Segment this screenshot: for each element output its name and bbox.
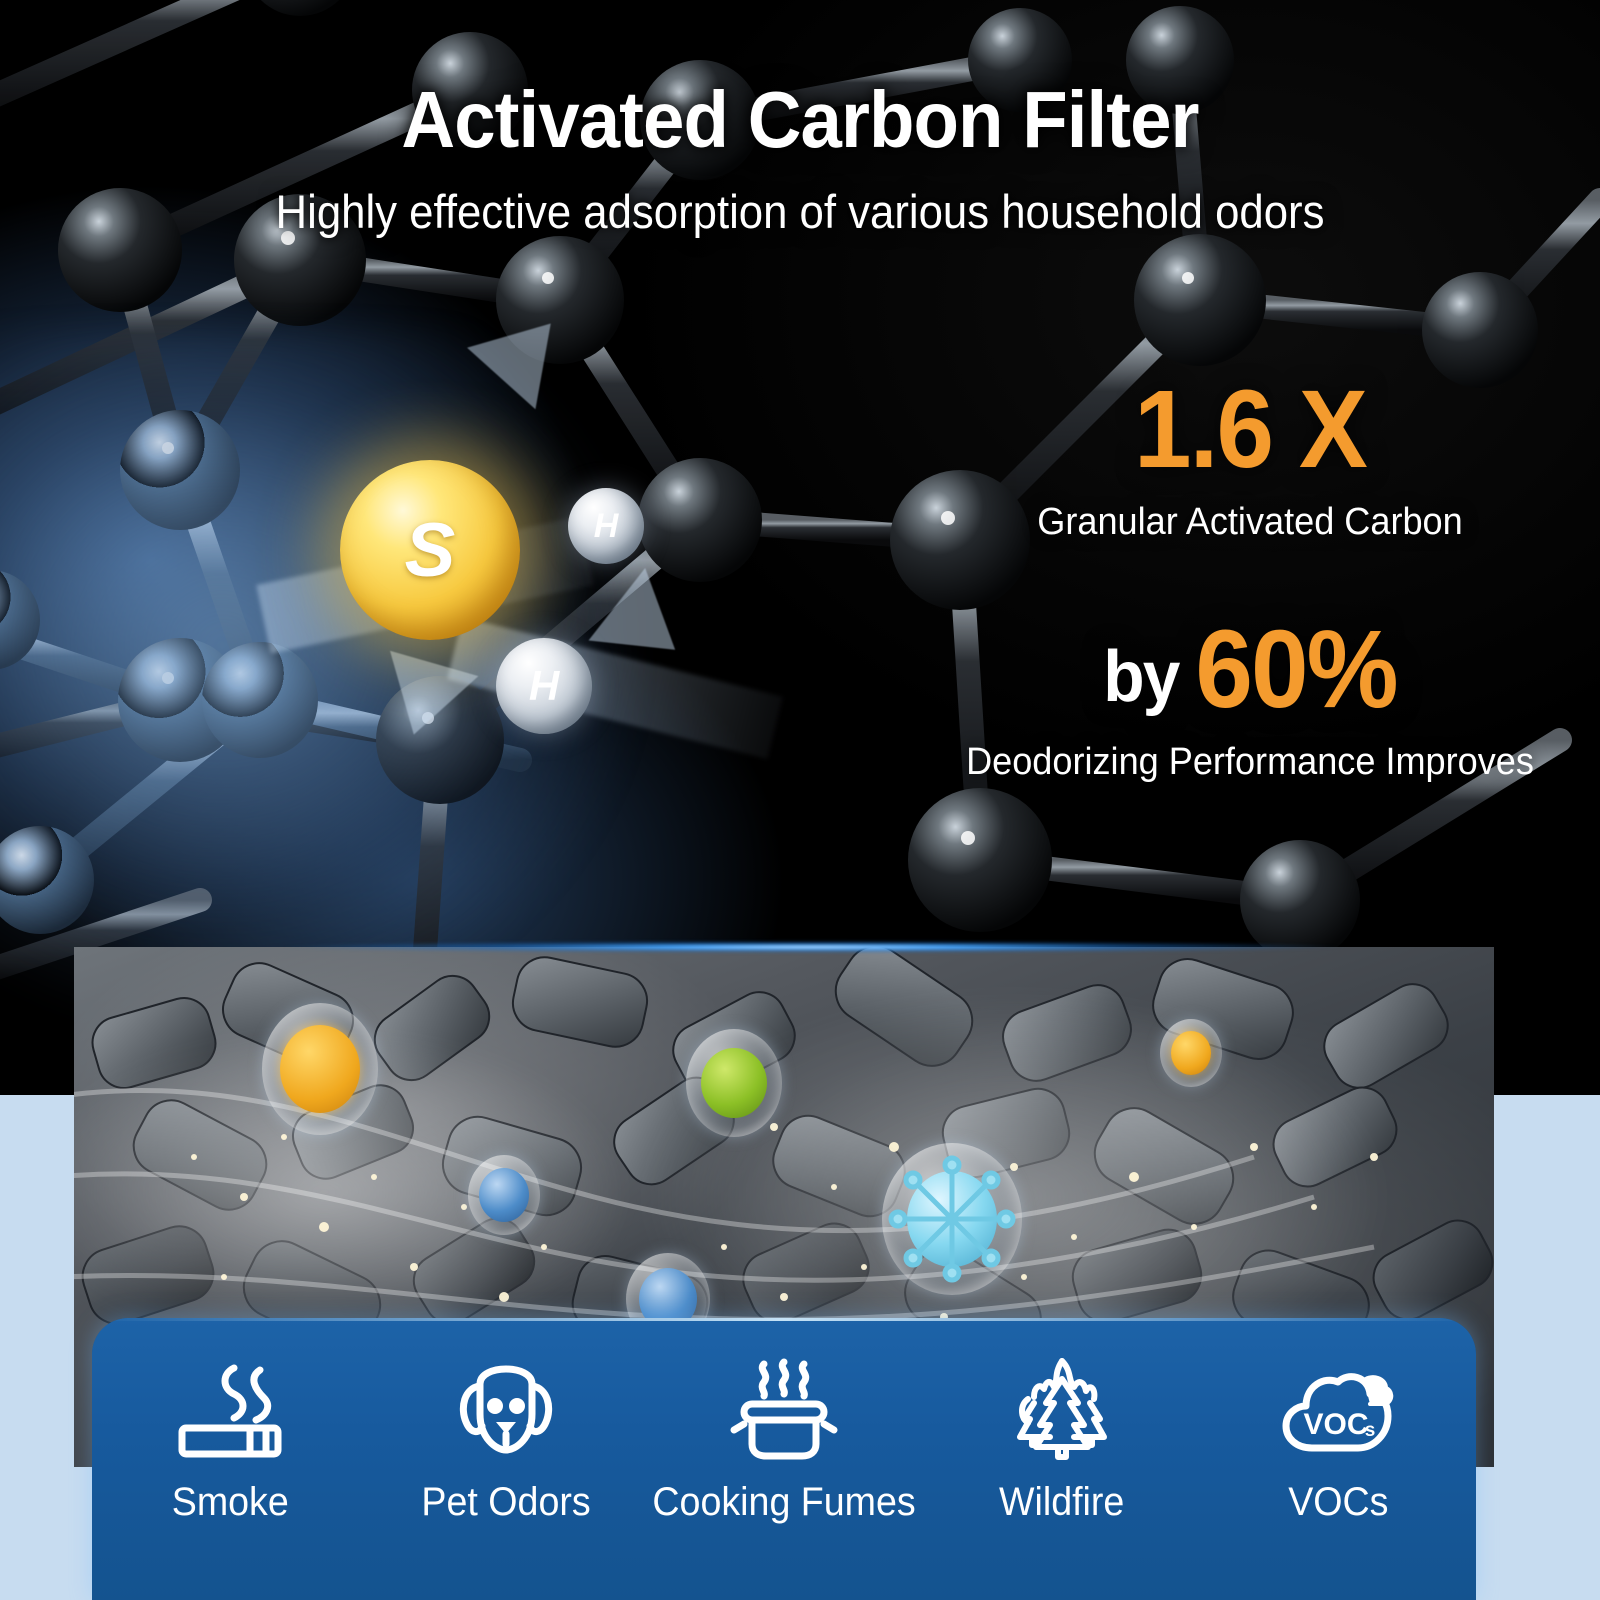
feature-label-smoke: Smoke xyxy=(171,1480,288,1525)
stat-value-1: 1.6 X xyxy=(949,375,1551,485)
hydrogen-atom-label-1: H xyxy=(568,488,644,564)
product-infographic: Activated Carbon Filter Highly effective… xyxy=(0,0,1600,1600)
hydrogen-atom-label-2: H xyxy=(496,638,592,734)
stat-deodorizing: by 60% Deodorizing Performance Improves xyxy=(930,615,1570,784)
stat-value-2: 60% xyxy=(1195,608,1396,731)
voc-icon-main-text: VOC xyxy=(1304,1408,1369,1441)
feature-smoke[interactable]: Smoke xyxy=(92,1318,368,1600)
stat-prefix-2: by xyxy=(1103,637,1195,717)
feature-label-pet-odors: Pet Odors xyxy=(421,1480,590,1525)
feature-cooking-fumes[interactable]: Cooking Fumes xyxy=(644,1318,924,1600)
page-subtitle: Highly effective adsorption of various h… xyxy=(56,184,1544,239)
particle-bubble-pollen-small xyxy=(1160,1019,1222,1087)
feature-pet-odors[interactable]: Pet Odors xyxy=(368,1318,644,1600)
cigarette-smoke-icon xyxy=(176,1354,284,1466)
sulfur-atom-label: S xyxy=(340,460,520,640)
feature-wildfire[interactable]: Wildfire xyxy=(924,1318,1200,1600)
feature-vocs[interactable]: VOC s VOCs xyxy=(1200,1318,1476,1600)
hydrogen-atom-1: H xyxy=(568,488,644,564)
stat-caption-1: Granular Activated Carbon xyxy=(946,501,1554,544)
particle-bubble-mold xyxy=(686,1029,782,1137)
hydrogen-atom-2: H xyxy=(496,638,592,734)
stat-value-2-wrap: by 60% xyxy=(949,615,1551,725)
feature-label-cooking-fumes: Cooking Fumes xyxy=(652,1480,915,1525)
dog-face-icon xyxy=(450,1354,562,1466)
voc-icon-sub-text: s xyxy=(1365,1420,1376,1441)
particle-bubble-pollen-large xyxy=(262,1003,378,1135)
page-title: Activated Carbon Filter xyxy=(56,74,1544,166)
cooking-pot-icon xyxy=(728,1354,840,1466)
stat-caption-2: Deodorizing Performance Improves xyxy=(946,741,1554,784)
odor-types-bar: Smoke Pet Odors xyxy=(92,1318,1476,1600)
sulfur-atom: S xyxy=(340,460,520,640)
particle-bubble-bacteria-small xyxy=(468,1155,540,1235)
particle-bubble-virus xyxy=(882,1143,1022,1295)
stat-granular-carbon: 1.6 X Granular Activated Carbon xyxy=(930,375,1570,544)
feature-label-wildfire: Wildfire xyxy=(999,1480,1124,1525)
burning-trees-icon xyxy=(1006,1354,1118,1466)
voc-cloud-icon: VOC s xyxy=(1278,1354,1398,1466)
feature-label-vocs: VOCs xyxy=(1288,1480,1388,1525)
h2s-molecule-illustration: S H H xyxy=(300,430,760,760)
virus-spikes xyxy=(887,1151,1017,1287)
